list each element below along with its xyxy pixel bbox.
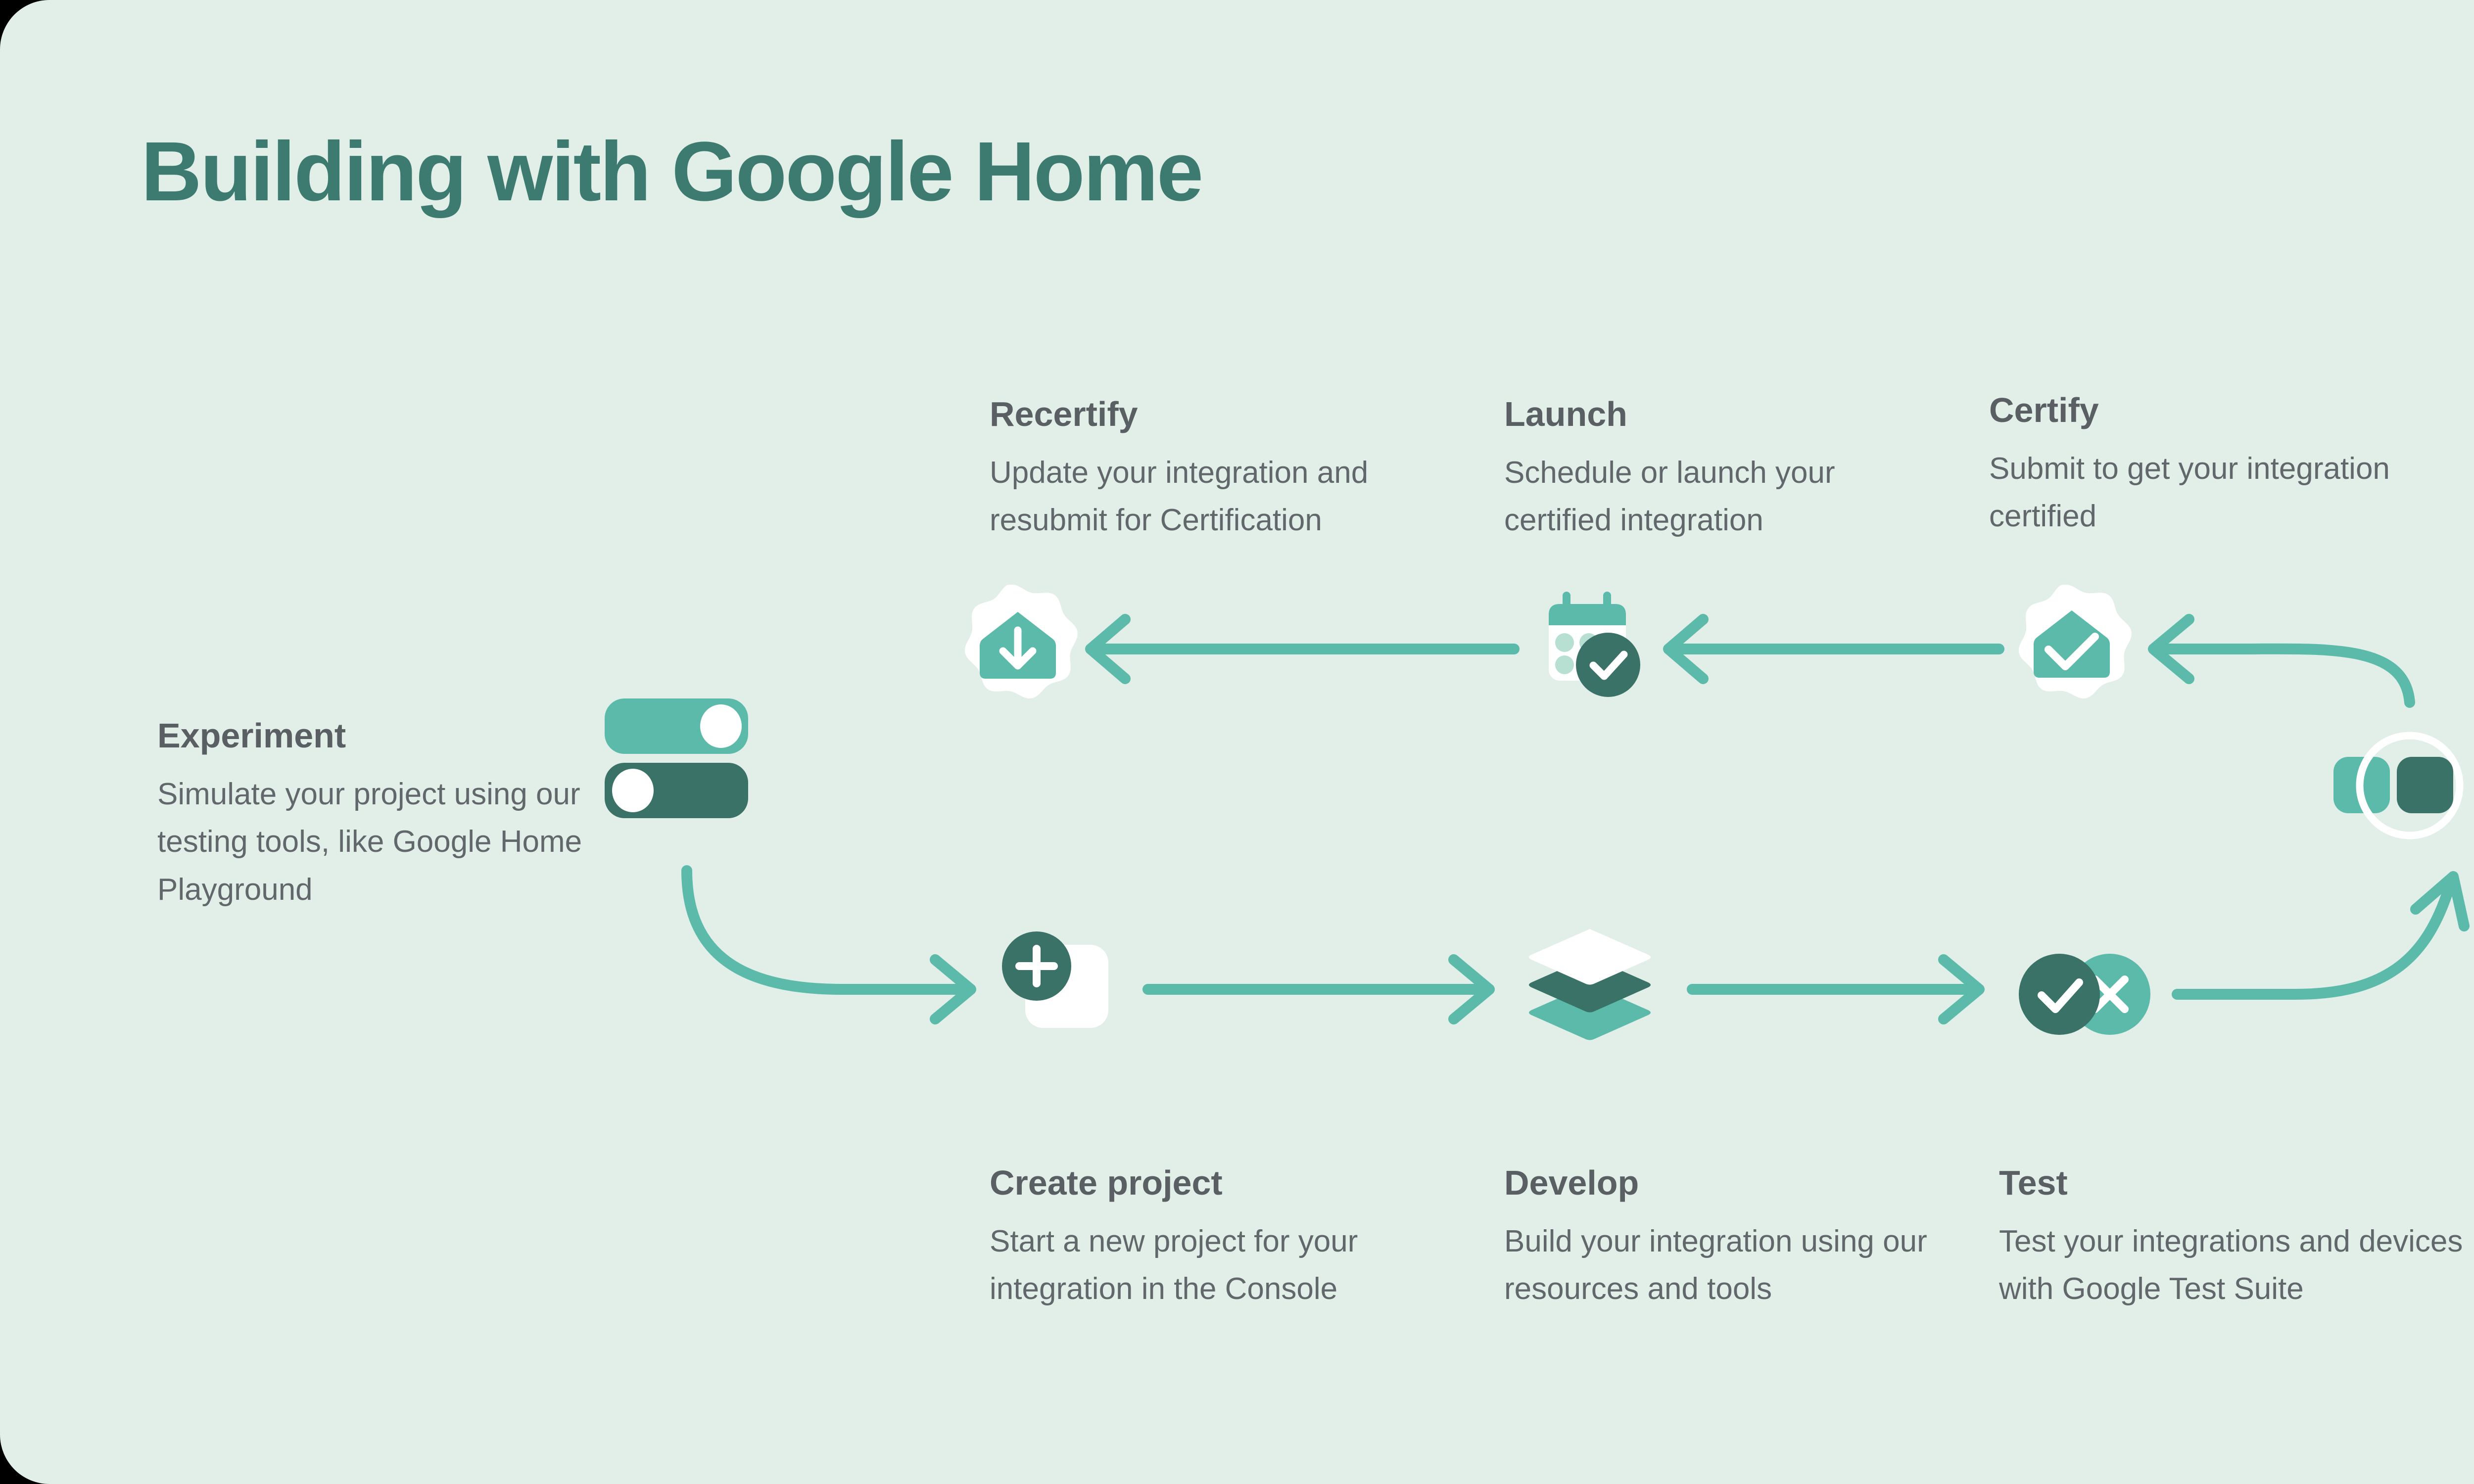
node-title-develop: Develop (1504, 1163, 1940, 1202)
page-title: Building with Google Home (141, 130, 1202, 214)
node-description-develop: Build your integration using our resourc… (1504, 1218, 1940, 1313)
layers-icon (1523, 926, 1657, 1050)
node-launch: Launch Schedule or launch your certified… (1504, 395, 1910, 545)
node-description-certify: Submit to get your integration certified (1989, 445, 2395, 540)
arrow-experiment-to-create (687, 871, 971, 1019)
node-test: Test Test your integrations and devices … (1999, 1163, 2474, 1313)
node-title-launch: Launch (1504, 395, 1910, 433)
diagram-canvas: Building with Google Home .arw { fill:no… (0, 0, 2474, 1484)
node-description-recertify: Update your integration and resubmit for… (990, 449, 1425, 544)
node-description-launch: Schedule or launch your certified integr… (1504, 449, 1910, 544)
arrow-create-to-develop (1148, 960, 1489, 1019)
node-description-create-project: Start a new project for your integration… (990, 1218, 1435, 1313)
arrow-launch-to-recertify (1091, 619, 1514, 679)
node-description-experiment: Simulate your project using our testing … (157, 771, 603, 913)
arrow-certify-to-launch (1668, 619, 1999, 679)
node-title-certify: Certify (1989, 391, 2395, 429)
node-title-experiment: Experiment (157, 716, 603, 755)
badge-download-home-icon (956, 585, 1080, 708)
badge-check-home-icon (2010, 585, 2134, 708)
node-create-project: Create project Start a new project for y… (990, 1163, 1435, 1313)
node-recertify: Recertify Update your integration and re… (990, 395, 1425, 545)
node-develop: Develop Build your integration using our… (1504, 1163, 1940, 1313)
node-title-test: Test (1999, 1163, 2474, 1202)
toggle-switches-icon (605, 698, 753, 822)
arrow-fieldtrial-to-certify (2153, 619, 2410, 702)
arrow-develop-to-test (1692, 960, 1979, 1019)
calendar-check-icon (1534, 587, 1658, 710)
node-experiment: Experiment Simulate your project using o… (157, 716, 603, 914)
node-title-create-project: Create project (990, 1163, 1435, 1202)
add-project-icon (995, 924, 1123, 1048)
node-certify: Certify Submit to get your integration c… (1989, 391, 2395, 541)
devices-circle-icon (2331, 726, 2470, 845)
check-cross-circles-icon (2009, 944, 2162, 1048)
arrow-test-to-fieldtrial (2177, 877, 2464, 994)
node-title-recertify: Recertify (990, 395, 1425, 433)
node-description-test: Test your integrations and devices with … (1999, 1218, 2474, 1313)
